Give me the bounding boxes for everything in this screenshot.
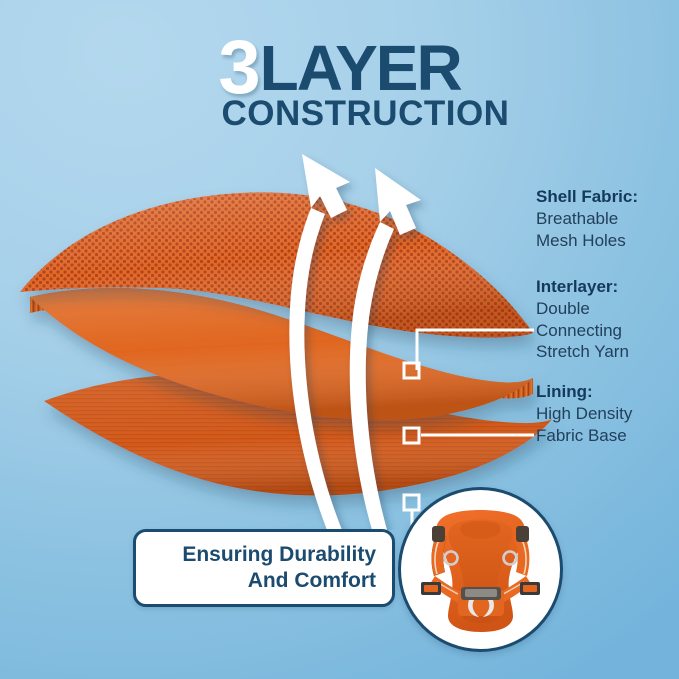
tagline-banner: Ensuring Durability And Comfort xyxy=(133,529,395,607)
callout-interlayer: Interlayer: Double Connecting Stretch Ya… xyxy=(536,276,629,363)
tagline-line-2: And Comfort xyxy=(248,568,376,594)
callout-shell-fabric: Shell Fabric: Breathable Mesh Holes xyxy=(536,186,638,251)
callout-interlayer-heading: Interlayer: xyxy=(536,276,629,298)
callout-lining-heading: Lining: xyxy=(536,381,632,403)
callout-interlayer-line-3: Stretch Yarn xyxy=(536,341,629,363)
callout-interlayer-line-1: Double xyxy=(536,298,629,320)
callout-lining-line-2: Fabric Base xyxy=(536,425,632,447)
title-subtitle: CONSTRUCTION xyxy=(0,94,679,134)
callout-lining: Lining: High Density Fabric Base xyxy=(536,381,632,446)
tagline-line-1: Ensuring Durability xyxy=(182,542,376,568)
callout-lining-line-1: High Density xyxy=(536,403,632,425)
page-title: 3LAYER CONSTRUCTION xyxy=(0,30,679,134)
dog-harness-icon xyxy=(401,490,560,649)
title-main-row: 3LAYER xyxy=(0,30,679,92)
callout-shell-line-1: Breathable xyxy=(536,208,638,230)
callout-shell-heading: Shell Fabric: xyxy=(536,186,638,208)
callout-shell-line-2: Mesh Holes xyxy=(536,230,638,252)
callout-interlayer-line-2: Connecting xyxy=(536,320,629,342)
product-photo-circle xyxy=(398,487,563,652)
infographic-canvas: 3LAYER CONSTRUCTION xyxy=(0,0,679,679)
